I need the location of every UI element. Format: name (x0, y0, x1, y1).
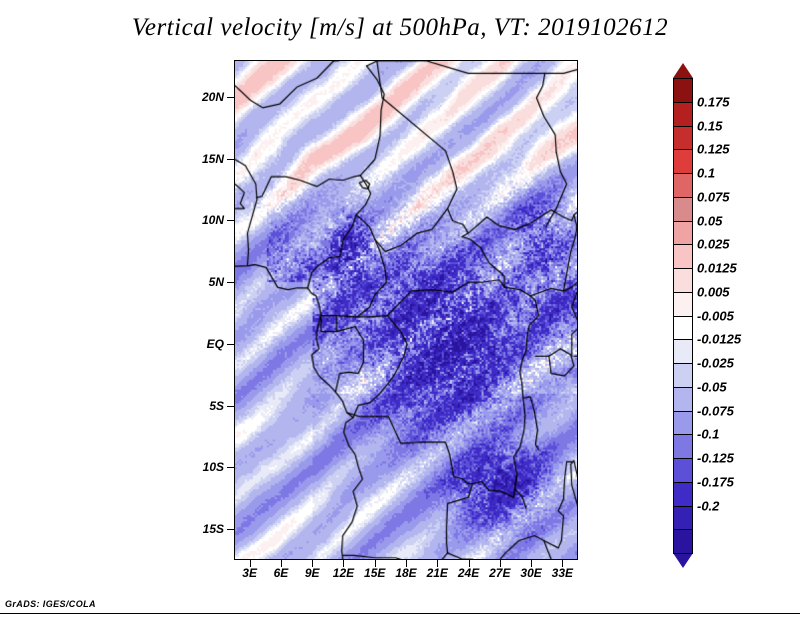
longitude-label: 12E (333, 566, 354, 580)
footer-divider (0, 613, 800, 614)
latitude-tick (227, 406, 234, 407)
colorbar-segment (673, 458, 693, 483)
latitude-tick (227, 529, 234, 530)
colorbar-segment (673, 149, 693, 174)
longitude-label: 9E (305, 566, 320, 580)
latitude-label: 15N (202, 152, 224, 166)
colorbar-label: 0.075 (697, 189, 730, 204)
colorbar-segment (673, 173, 693, 198)
colorbar-label: -0.175 (697, 474, 734, 489)
colorbar-segment (673, 506, 693, 531)
longitude-label: 27E (489, 566, 510, 580)
longitude-label: 21E (427, 566, 448, 580)
vertical-velocity-heatmap (235, 61, 577, 559)
colorbar-segment (673, 363, 693, 388)
colorbar-arrow-top (673, 63, 693, 78)
colorbar-segment (673, 268, 693, 293)
longitude-label: 30E (520, 566, 541, 580)
longitude-label: 6E (274, 566, 289, 580)
page-title: Vertical velocity [m/s] at 500hPa, VT: 2… (0, 14, 800, 42)
latitude-tick (227, 282, 234, 283)
latitude-label: 10N (202, 213, 224, 227)
colorbar-label: 0.05 (697, 213, 722, 228)
colorbar-label: -0.0125 (697, 332, 741, 347)
colorbar-segment (673, 411, 693, 436)
colorbar-segment (673, 126, 693, 151)
colorbar-segment (673, 244, 693, 269)
colorbar-label: 0.1 (697, 166, 715, 181)
longitude-label: 18E (395, 566, 416, 580)
colorbar-segment (673, 102, 693, 127)
colorbar: 0.1750.150.1250.10.0750.050.0250.01250.0… (673, 78, 693, 553)
colorbar-label: -0.005 (697, 308, 734, 323)
colorbar-label: 0.025 (697, 237, 730, 252)
colorbar-segment (673, 387, 693, 412)
latitude-label: 15S (203, 522, 224, 536)
colorbar-label: 0.15 (697, 118, 722, 133)
colorbar-label: -0.125 (697, 451, 734, 466)
colorbar-segment (673, 529, 693, 554)
latitude-tick (227, 467, 234, 468)
latitude-label: 10S (203, 460, 224, 474)
colorbar-label: 0.125 (697, 142, 730, 157)
latitude-tick (227, 159, 234, 160)
colorbar-segment (673, 292, 693, 317)
colorbar-segment (673, 221, 693, 246)
colorbar-segment (673, 339, 693, 364)
colorbar-label: -0.075 (697, 403, 734, 418)
longitude-label: 15E (364, 566, 385, 580)
colorbar-label: 0.175 (697, 94, 730, 109)
longitude-label: 33E (552, 566, 573, 580)
colorbar-segment (673, 482, 693, 507)
colorbar-label: -0.05 (697, 379, 727, 394)
latitude-tick (227, 220, 234, 221)
latitude-label: EQ (207, 337, 224, 351)
longitude-label: 3E (242, 566, 257, 580)
colorbar-label: 0.0125 (697, 261, 737, 276)
colorbar-label: -0.025 (697, 356, 734, 371)
colorbar-label: -0.1 (697, 427, 719, 442)
colorbar-segment (673, 78, 693, 103)
latitude-tick (227, 97, 234, 98)
latitude-tick (227, 344, 234, 345)
longitude-label: 24E (458, 566, 479, 580)
colorbar-arrow-bottom (673, 553, 693, 568)
colorbar-segment (673, 434, 693, 459)
colorbar-segment (673, 316, 693, 341)
latitude-label: 20N (202, 90, 224, 104)
latitude-label: 5S (209, 399, 224, 413)
colorbar-label: -0.2 (697, 498, 719, 513)
latitude-label: 5N (209, 275, 224, 289)
map-plot-area (234, 60, 578, 560)
attribution-footer: GrADS: IGES/COLA (5, 599, 96, 609)
colorbar-label: 0.005 (697, 284, 730, 299)
colorbar-segment (673, 197, 693, 222)
